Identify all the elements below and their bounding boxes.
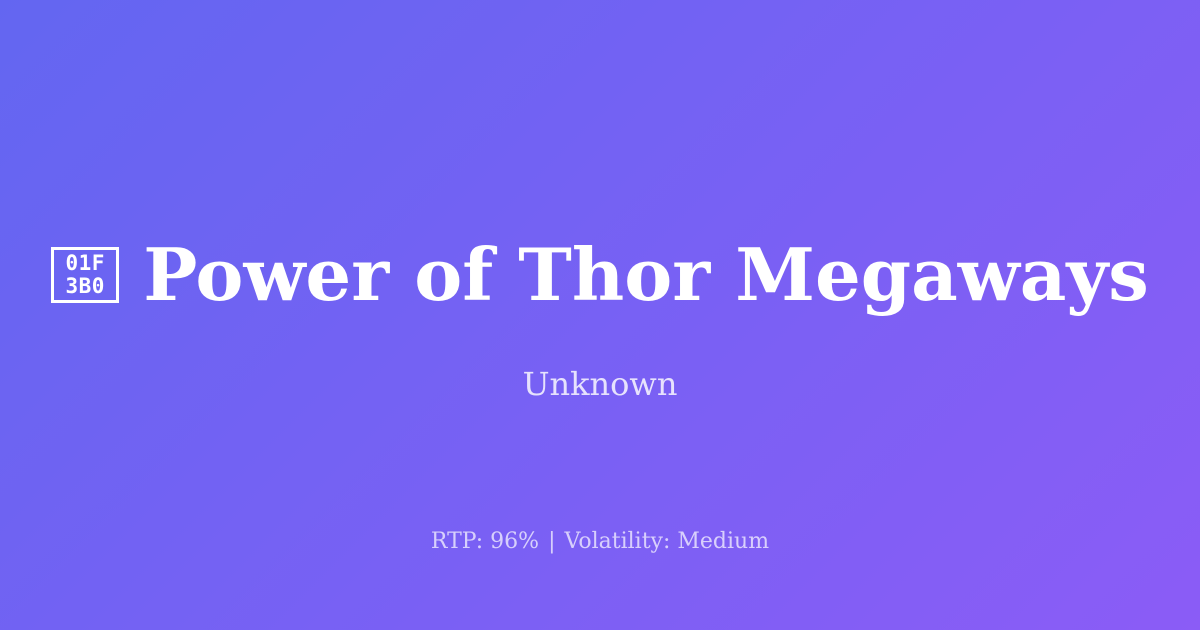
tofu-codepoint-lower: 3B0 — [66, 275, 105, 298]
stat-separator: | — [546, 529, 557, 554]
page-title: Power of Thor Megaways — [143, 231, 1149, 319]
slot-machine-icon: 01F 3B0 — [51, 247, 119, 303]
game-stats-line: RTP: 96% | Volatility: Medium — [0, 526, 1200, 558]
title-row: 01F 3B0 Power of Thor Megaways — [0, 231, 1200, 319]
tofu-codepoint-upper: 01F — [66, 252, 105, 275]
volatility-stat: Volatility: Medium — [565, 529, 770, 554]
og-share-card: 01F 3B0 Power of Thor Megaways Unknown R… — [0, 0, 1200, 630]
page-subtitle: Unknown — [0, 362, 1200, 406]
rtp-stat: RTP: 96% — [431, 529, 539, 554]
